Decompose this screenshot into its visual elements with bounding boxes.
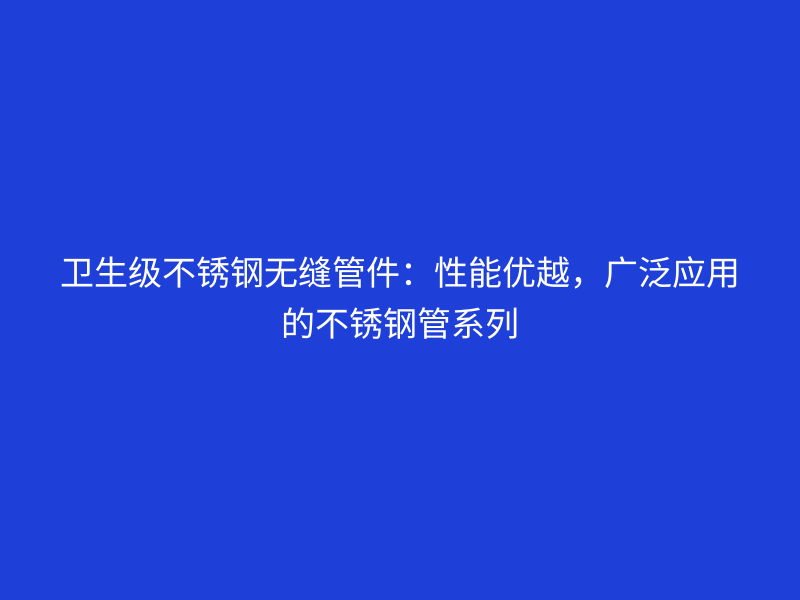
title-block: 卫生级不锈钢无缝管件：性能优越，广泛应用的不锈钢管系列 bbox=[50, 249, 750, 351]
title-card: 卫生级不锈钢无缝管件：性能优越，广泛应用的不锈钢管系列 bbox=[0, 0, 800, 600]
page-title: 卫生级不锈钢无缝管件：性能优越，广泛应用的不锈钢管系列 bbox=[55, 249, 745, 351]
